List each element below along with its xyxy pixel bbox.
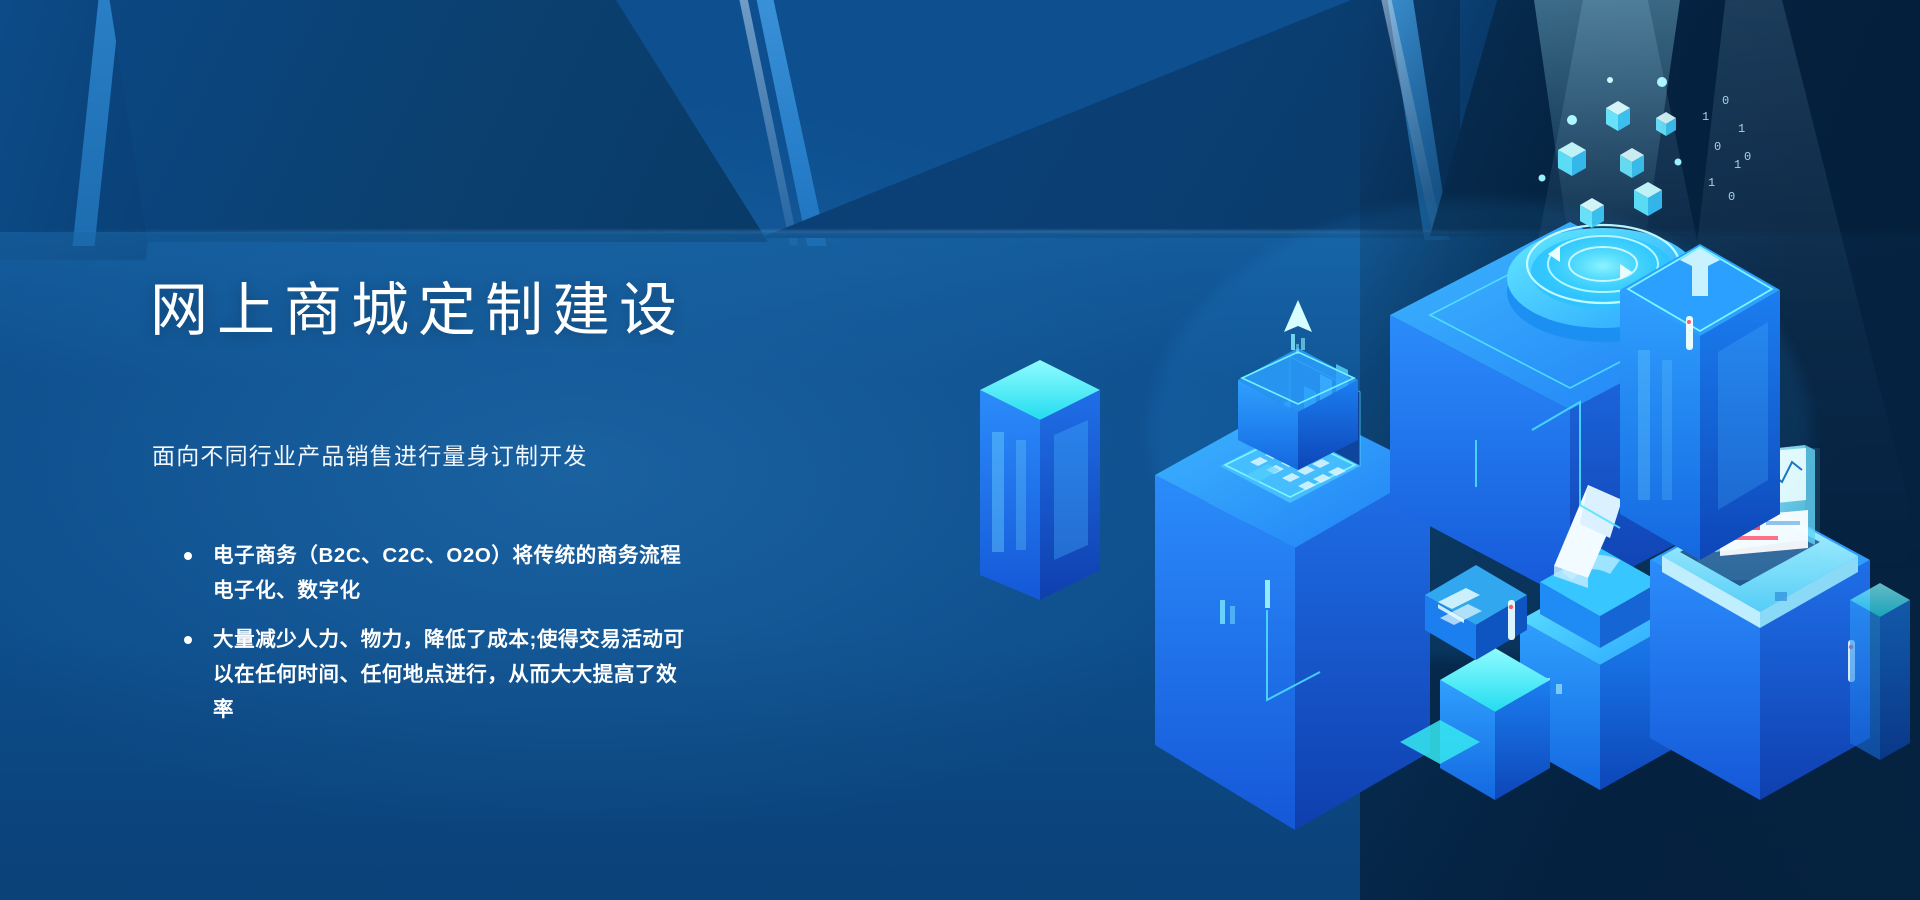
background-right-shadow [1360, 0, 1920, 900]
list-item-text: 大量减少人力、物力，降低了成本;使得交易活动可以在任何时间、任何地点进行，从而大… [213, 622, 698, 727]
bullet-dot-icon [184, 552, 192, 560]
promo-banner: 1 0 1 0 1 1 0 0 [0, 0, 1920, 900]
feature-list: 电子商务（B2C、C2C、O2O）将传统的商务流程电子化、数字化 大量减少人力、… [178, 538, 698, 741]
list-item-text: 电子商务（B2C、C2C、O2O）将传统的商务流程电子化、数字化 [213, 538, 698, 608]
page-title: 网上商城定制建设 [150, 282, 686, 340]
list-item: 大量减少人力、物力，降低了成本;使得交易活动可以在任何时间、任何地点进行，从而大… [178, 622, 698, 727]
banner-content: 网上商城定制建设 面向不同行业产品销售进行量身订制开发 电子商务（B2C、C2C… [0, 0, 860, 900]
page-subtitle: 面向不同行业产品销售进行量身订制开发 [152, 437, 588, 471]
list-item: 电子商务（B2C、C2C、O2O）将传统的商务流程电子化、数字化 [178, 538, 698, 608]
bullet-dot-icon [184, 636, 192, 644]
